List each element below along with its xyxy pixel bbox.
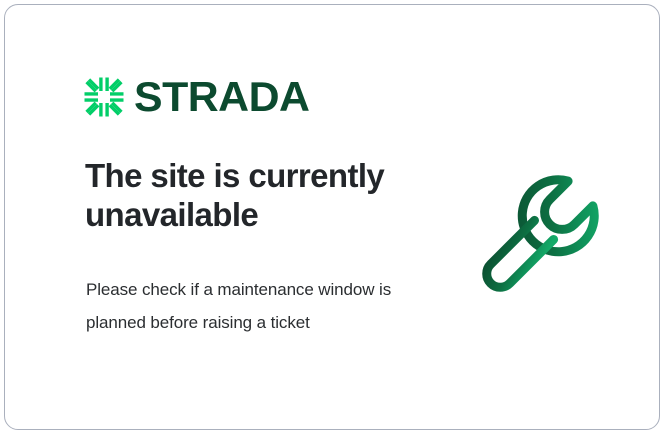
- brand-lockup: STRADA: [83, 73, 306, 121]
- page-title: The site is currently unavailable: [85, 157, 415, 235]
- maintenance-card: STRADA The site is currently unavailable…: [4, 4, 660, 430]
- starburst-asterisk-icon: [83, 76, 125, 118]
- wrench-icon: [457, 157, 617, 317]
- wrench-illustration: [457, 157, 617, 317]
- brand-wordmark: STRADA: [134, 76, 309, 118]
- maintenance-instructions: Please check if a maintenance window is …: [86, 273, 396, 339]
